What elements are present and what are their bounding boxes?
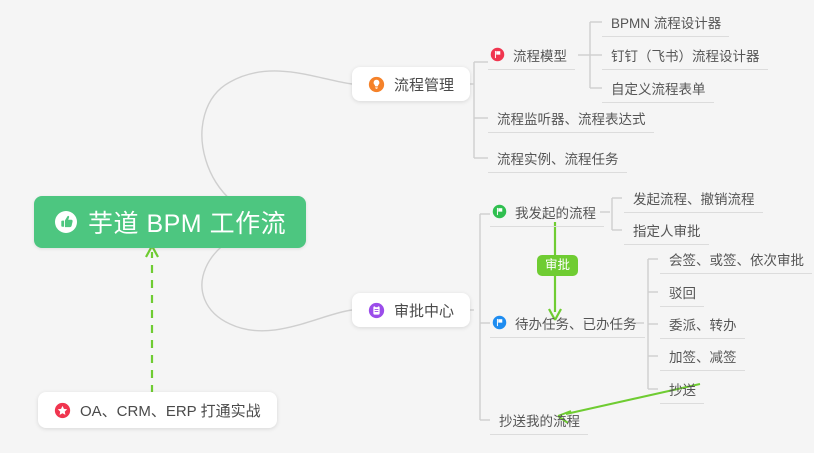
leaf-label: 流程实例、流程任务 <box>497 148 619 168</box>
star-icon <box>54 402 71 419</box>
flag-icon <box>492 315 507 330</box>
leaf-label: 会签、或签、依次审批 <box>669 249 804 269</box>
leaf-label: 指定人审批 <box>633 220 701 240</box>
root-label: 芋道 BPM 工作流 <box>88 204 286 240</box>
leaf-label: 委派、转办 <box>669 314 737 334</box>
bottom-node-label: OA、CRM、ERP 打通实战 <box>80 400 261 421</box>
leaf-node-delegate-transfer[interactable]: 委派、转办 <box>660 309 745 339</box>
leaf-node-cc[interactable]: 抄送 <box>660 374 704 404</box>
leaf-node-countersign[interactable]: 会签、或签、依次审批 <box>660 244 812 274</box>
leaf-node-process-model[interactable]: 流程模型 <box>488 40 575 70</box>
leaf-node-cc-my-process[interactable]: 抄送我的流程 <box>490 405 588 435</box>
leaf-label: 抄送 <box>669 379 696 399</box>
root-node[interactable]: 芋道 BPM 工作流 <box>34 196 306 248</box>
flag-icon <box>490 47 505 62</box>
leaf-node-start-cancel-process[interactable]: 发起流程、撤销流程 <box>624 183 763 213</box>
leaf-node-listener-expression[interactable]: 流程监听器、流程表达式 <box>488 103 654 133</box>
leaf-label: 抄送我的流程 <box>499 410 580 430</box>
leaf-node-bpmn-designer[interactable]: BPMN 流程设计器 <box>602 7 729 37</box>
leaf-label: 流程模型 <box>513 45 567 65</box>
dashed-arrow-to-root <box>146 246 158 393</box>
leaf-label: 驳回 <box>669 282 696 302</box>
leaf-node-add-remove-sign[interactable]: 加签、减签 <box>660 341 745 371</box>
leaf-label: 发起流程、撤销流程 <box>633 188 755 208</box>
mindmap-canvas: 芋道 BPM 工作流 流程管理 流程模型 BPMN 流程设计器 钉钉（飞书）流程 <box>0 0 814 453</box>
leaf-label: BPMN 流程设计器 <box>611 12 721 32</box>
branch-node-process-management[interactable]: 流程管理 <box>352 67 470 101</box>
leaf-label: 钉钉（飞书）流程设计器 <box>611 45 760 65</box>
bottom-node-integration-practice[interactable]: OA、CRM、ERP 打通实战 <box>38 392 277 428</box>
approval-badge: 审批 <box>537 255 578 276</box>
leaf-node-my-started-process[interactable]: 我发起的流程 <box>490 197 604 227</box>
leaf-node-dingtalk-designer[interactable]: 钉钉（飞书）流程设计器 <box>602 40 768 70</box>
lightbulb-icon <box>368 76 385 93</box>
thumbs-up-icon <box>54 210 78 234</box>
leaf-node-instance-task[interactable]: 流程实例、流程任务 <box>488 143 627 173</box>
branch-label: 流程管理 <box>394 74 454 95</box>
clipboard-icon <box>368 302 385 319</box>
leaf-node-reject[interactable]: 驳回 <box>660 277 704 307</box>
flag-icon <box>492 204 507 219</box>
leaf-label: 待办任务、已办任务 <box>515 313 637 333</box>
leaf-label: 我发起的流程 <box>515 202 596 222</box>
leaf-label: 加签、减签 <box>669 346 737 366</box>
branch-node-approval-center[interactable]: 审批中心 <box>352 293 470 327</box>
leaf-node-custom-form[interactable]: 自定义流程表单 <box>602 73 714 103</box>
leaf-node-assigned-approval[interactable]: 指定人审批 <box>624 215 709 245</box>
branch-label: 审批中心 <box>394 300 454 321</box>
leaf-label: 流程监听器、流程表达式 <box>497 108 646 128</box>
leaf-node-todo-done-tasks[interactable]: 待办任务、已办任务 <box>490 308 645 338</box>
leaf-label: 自定义流程表单 <box>611 78 706 98</box>
